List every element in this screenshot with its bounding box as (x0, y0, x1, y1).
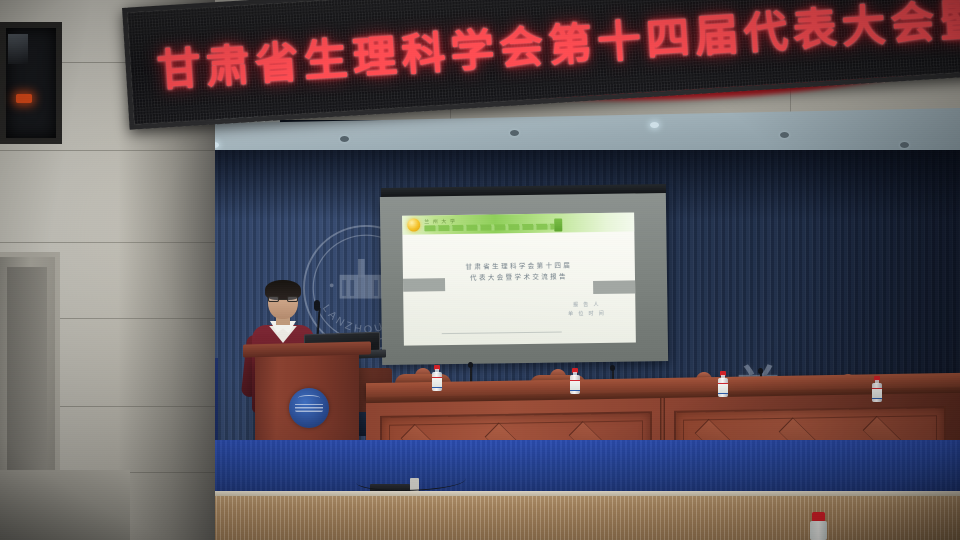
slide-presenter-block: 报 告 人 单 位 时 间 (568, 301, 606, 320)
glasses-icon (268, 296, 298, 302)
slide-header-bar (424, 224, 554, 232)
slide-divider (442, 331, 562, 334)
conference-photo-scene: LANZHOU UNIVERSITY 1909 兰 兰 州 大 学 甘肃省生理科… (0, 0, 960, 540)
wall-dark-panel (0, 22, 62, 144)
slide-header-tab (554, 218, 562, 231)
ceiling-light (900, 142, 909, 148)
front-floor-left (0, 470, 130, 540)
water-bottle (432, 365, 442, 391)
indicator-light-icon (16, 94, 32, 103)
slide-logo-icon (407, 218, 420, 231)
projection-screen: 兰 州 大 学 甘肃省生理科学会第十四届 代表大会暨学术交流报告 报 告 人 单… (380, 193, 668, 365)
water-bottle (718, 371, 728, 397)
water-bottle (872, 376, 882, 402)
slide-header-band: 兰 州 大 学 (402, 212, 634, 234)
ceiling-light (780, 132, 789, 138)
projector-shadow-right (593, 280, 636, 294)
stage-apron (196, 496, 960, 540)
podium-emblem-icon (289, 388, 329, 428)
ceiling-light (340, 136, 349, 142)
ceiling-light (650, 122, 659, 128)
foreground-water-bottle (810, 512, 827, 540)
slide-presenter-line2: 单 位 时 间 (568, 310, 605, 320)
ceiling-light (510, 130, 519, 136)
water-bottle (570, 368, 580, 394)
projector-shadow-left (402, 278, 445, 292)
projected-slide: 兰 州 大 学 甘肃省生理科学会第十四届 代表大会暨学术交流报告 报 告 人 单… (402, 212, 636, 345)
